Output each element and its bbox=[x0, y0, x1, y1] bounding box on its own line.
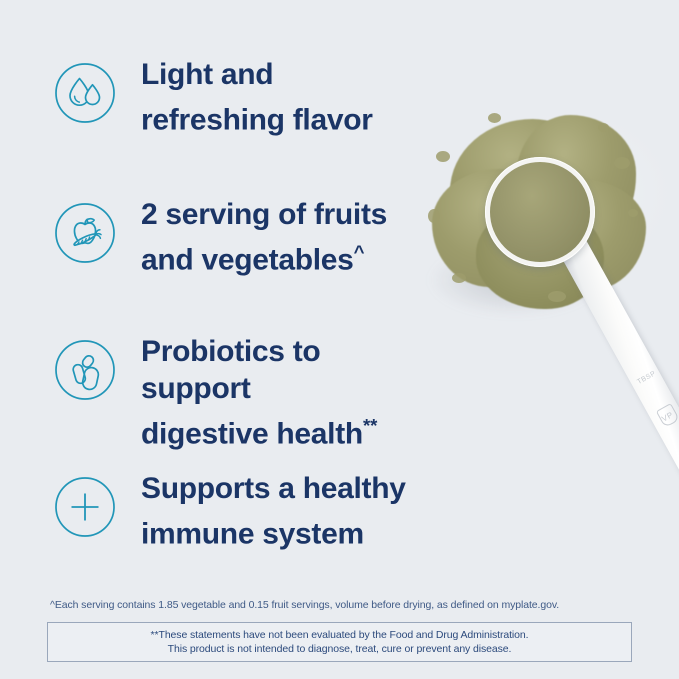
powder-speck bbox=[452, 273, 466, 283]
probiotic-bacteria-icon bbox=[54, 339, 116, 401]
feature-label: 2 serving of fruits and vegetables^ bbox=[141, 196, 387, 279]
powder-speck bbox=[628, 209, 638, 217]
powder-speck bbox=[428, 209, 440, 223]
product-photo: TBSP VP bbox=[400, 95, 679, 585]
feature-superscript: ^ bbox=[354, 241, 365, 262]
plus-icon bbox=[54, 476, 116, 538]
feature-label: Probiotics to support digestive health** bbox=[141, 333, 430, 453]
fda-disclaimer-box: **These statements have not been evaluat… bbox=[47, 622, 632, 662]
fda-disclaimer-text: **These statements have not been evaluat… bbox=[151, 628, 529, 656]
handle-emboss-tbsp: TBSP bbox=[636, 371, 656, 386]
powder-speck bbox=[598, 123, 609, 132]
water-droplets-icon bbox=[54, 62, 116, 124]
powder-speck bbox=[614, 157, 630, 169]
feature-label: Supports a healthy immune system bbox=[141, 470, 406, 553]
product-feature-panel: TBSP VP Light and refreshing flavor bbox=[0, 0, 679, 679]
apple-carrot-icon bbox=[54, 202, 116, 264]
feature-label: Light and refreshing flavor bbox=[141, 56, 373, 139]
feature-item-immune-support: Supports a healthy immune system bbox=[54, 470, 406, 553]
scoop-bowl bbox=[485, 157, 595, 267]
powder-speck bbox=[548, 291, 566, 302]
feature-superscript: ** bbox=[363, 415, 377, 436]
powder-speck bbox=[436, 151, 450, 162]
feature-item-fruits-vegetables: 2 serving of fruits and vegetables^ bbox=[54, 196, 387, 279]
powder-speck bbox=[488, 113, 501, 123]
feature-item-probiotics: Probiotics to support digestive health** bbox=[54, 333, 430, 453]
serving-footnote: ^Each serving contains 1.85 vegetable an… bbox=[50, 598, 650, 612]
feature-item-flavor: Light and refreshing flavor bbox=[54, 56, 373, 139]
